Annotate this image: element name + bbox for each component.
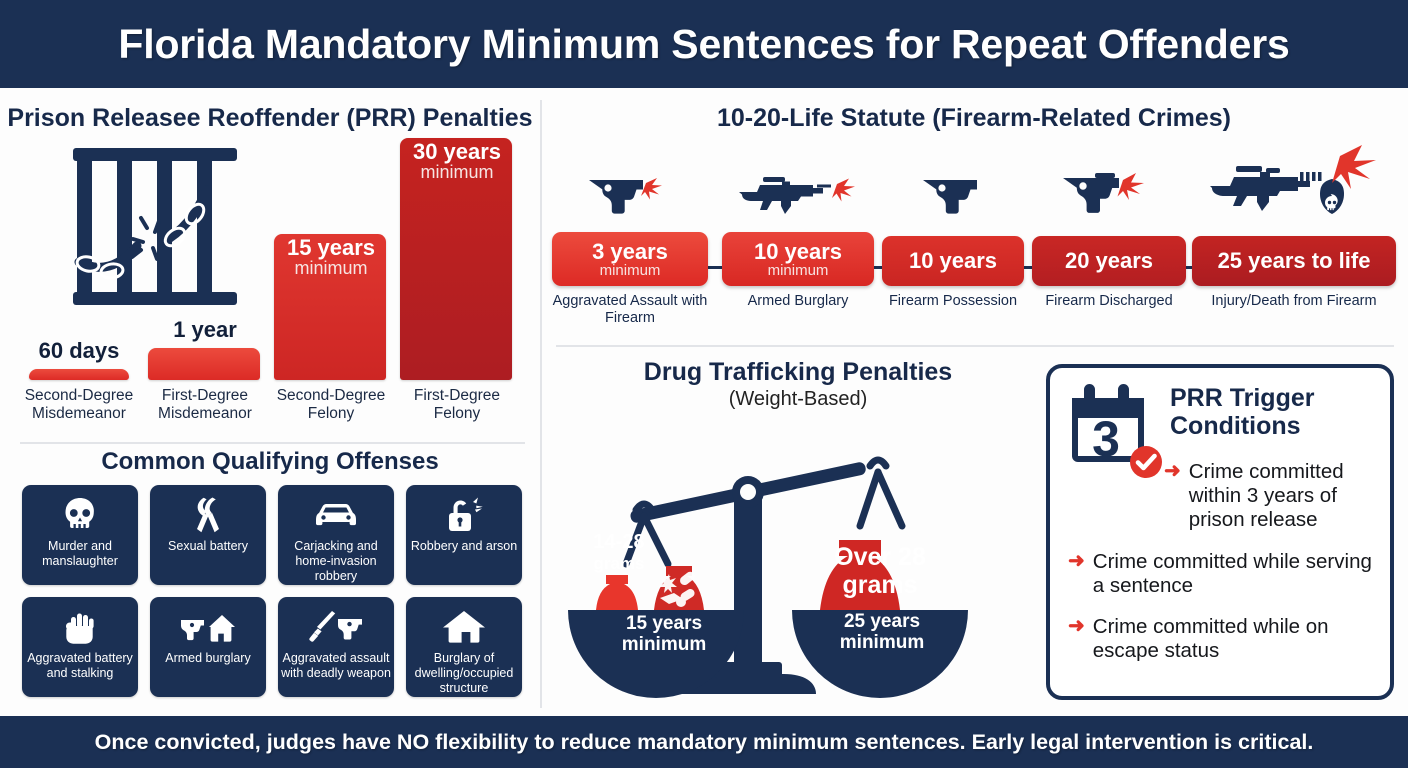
life-value: 10 years bbox=[754, 240, 842, 263]
offense-label: Sexual battery bbox=[165, 536, 251, 554]
life-value: 3 years bbox=[592, 240, 668, 263]
handgun-muzzle-flash-icon bbox=[552, 144, 708, 226]
awareness-ribbon-icon bbox=[193, 494, 223, 536]
offense-tile[interactable]: Carjacking and home-invasion robbery bbox=[278, 485, 394, 585]
offense-label: Armed burglary bbox=[162, 648, 253, 666]
prr-bar-chart: 60 days Second-Degree Misdemeanor 1 year… bbox=[20, 138, 525, 428]
life-section-title: 10-20-Life Statute (Firearm-Related Crim… bbox=[548, 104, 1400, 133]
bar-1 bbox=[148, 348, 260, 380]
trigger-condition-text: Crime committed within 3 years of prison… bbox=[1189, 460, 1382, 533]
rifle-skull-shield-icon bbox=[1192, 144, 1396, 226]
offense-tile[interactable]: Burglary of dwelling/occupied structure bbox=[406, 597, 522, 697]
page-title: Florida Mandatory Minimum Sentences for … bbox=[118, 21, 1289, 68]
arrow-right-icon: ➜ bbox=[1068, 615, 1085, 639]
life-caption: Armed Burglary bbox=[722, 293, 874, 310]
bar-label-1: 1 year bbox=[146, 317, 264, 343]
trigger-condition-text: Crime committed while serving a sentence bbox=[1093, 550, 1384, 598]
trigger-title: PRR Trigger Conditions bbox=[1170, 384, 1384, 440]
bar-label-2: 15 years minimum bbox=[272, 236, 390, 278]
skull-icon bbox=[63, 494, 97, 536]
life-caption: Aggravated Assault with Firearm bbox=[552, 293, 708, 328]
bar-group-1: 1 year bbox=[146, 138, 264, 380]
raised-fist-icon bbox=[64, 606, 96, 648]
life-pill: 20 years bbox=[1032, 236, 1186, 286]
bar-category-2: Second-Degree Felony bbox=[272, 387, 390, 424]
offense-tile[interactable]: Aggravated assault with deadly weapon bbox=[278, 597, 394, 697]
bar-group-0: 60 days bbox=[20, 138, 138, 380]
life-pill: 3 years minimum bbox=[552, 232, 708, 286]
bar-group-2: 15 years minimum bbox=[272, 138, 390, 380]
bar-0 bbox=[29, 369, 129, 380]
offense-label: Burglary of dwelling/occupied structure bbox=[406, 648, 522, 695]
life-value: 10 years bbox=[909, 249, 997, 272]
drug-section-title: Drug Trafficking Penalties bbox=[548, 358, 1048, 387]
trigger-condition-text: Crime committed while on escape status bbox=[1093, 615, 1384, 663]
ten-twenty-life-section: 10-20-Life Statute (Firearm-Related Crim… bbox=[548, 98, 1400, 346]
handgun-icon bbox=[882, 144, 1024, 226]
life-pill: 10 years minimum bbox=[722, 232, 874, 286]
rifle-muzzle-flash-icon bbox=[722, 144, 874, 226]
bar-category-1: First-Degree Misdemeanor bbox=[146, 387, 264, 424]
life-caption: Firearm Discharged bbox=[1032, 293, 1186, 310]
offense-tile[interactable]: Sexual battery bbox=[150, 485, 266, 585]
life-item[interactable]: 25 years to life Injury/Death from Firea… bbox=[1192, 144, 1396, 310]
life-pill: 25 years to life bbox=[1192, 236, 1396, 286]
life-value: 25 years to life bbox=[1218, 249, 1371, 272]
trigger-header: 3 PRR Trigger Conditions bbox=[1066, 382, 1384, 460]
vertical-divider bbox=[540, 100, 542, 708]
trigger-condition-item: ➜ Crime committed within 3 years of pris… bbox=[1164, 460, 1382, 533]
broken-padlock-icon bbox=[444, 494, 484, 536]
life-caption: Firearm Possession bbox=[882, 293, 1024, 310]
handgun-house-icon bbox=[179, 606, 237, 648]
life-pill: 10 years bbox=[882, 236, 1024, 286]
life-timeline: 3 years minimum Aggravated Assault with … bbox=[552, 144, 1396, 340]
life-value: 20 years bbox=[1065, 249, 1153, 272]
life-item[interactable]: 3 years minimum Aggravated Assault with … bbox=[552, 144, 708, 328]
offense-tile[interactable]: Armed burglary bbox=[150, 597, 266, 697]
offense-tile-grid: Murder and manslaughter Sexual battery bbox=[22, 485, 522, 697]
arrow-right-icon: ➜ bbox=[1164, 460, 1181, 484]
bar-group-3: 30 years minimum bbox=[398, 138, 516, 380]
offense-label: Aggravated battery and stalking bbox=[22, 648, 138, 681]
drug-trafficking-section: Drug Trafficking Penalties (Weight-Based… bbox=[548, 352, 1048, 708]
prr-penalties-section: Prison Releasee Reoffender (PRR) Penalti… bbox=[0, 98, 540, 442]
trigger-conditions-list: ➜ Crime committed within 3 years of pris… bbox=[1068, 460, 1384, 680]
trigger-condition-item: ➜ Crime committed while on escape status bbox=[1068, 615, 1384, 663]
trigger-condition-item: ➜ Crime committed while serving a senten… bbox=[1068, 550, 1384, 598]
footer-text: Once convicted, judges have NO flexibili… bbox=[95, 730, 1314, 755]
life-item[interactable]: 10 years Firearm Possession bbox=[882, 144, 1024, 310]
house-icon bbox=[442, 606, 486, 648]
balance-scale-icon: 14-28 grams 15 years minimum Over 28 gra… bbox=[548, 414, 1048, 704]
offense-label: Murder and manslaughter bbox=[22, 536, 138, 569]
offense-label: Robbery and arson bbox=[408, 536, 520, 554]
offense-tile[interactable]: Robbery and arson bbox=[406, 485, 522, 585]
knife-handgun-icon bbox=[307, 606, 365, 648]
qualifying-offenses-section: Common Qualifying Offenses Murder and ma… bbox=[0, 446, 540, 708]
drug-section-subtitle: (Weight-Based) bbox=[548, 388, 1048, 411]
bar-label-3: 30 years minimum bbox=[398, 140, 516, 182]
prr-section-title: Prison Releasee Reoffender (PRR) Penalti… bbox=[0, 104, 540, 133]
bar-category-0: Second-Degree Misdemeanor bbox=[20, 387, 138, 424]
left-column-divider bbox=[20, 442, 525, 444]
car-icon bbox=[312, 494, 360, 536]
life-item[interactable]: 20 years Firearm Discharged bbox=[1032, 144, 1186, 310]
offense-tile[interactable]: Murder and manslaughter bbox=[22, 485, 138, 585]
offense-label: Aggravated assault with deadly weapon bbox=[278, 648, 394, 681]
offense-tile[interactable]: Aggravated battery and stalking bbox=[22, 597, 138, 697]
handgun-discharge-icon bbox=[1032, 144, 1186, 226]
prr-trigger-conditions-box: 3 PRR Trigger Conditions ➜ Crime committ… bbox=[1046, 364, 1394, 700]
life-sub: minimum bbox=[768, 263, 829, 279]
page-footer: Once convicted, judges have NO flexibili… bbox=[0, 716, 1408, 768]
page-header: Florida Mandatory Minimum Sentences for … bbox=[0, 0, 1408, 88]
infographic-page: Florida Mandatory Minimum Sentences for … bbox=[0, 0, 1408, 768]
life-caption: Injury/Death from Firearm bbox=[1192, 293, 1396, 310]
life-item[interactable]: 10 years minimum Armed Burglary bbox=[722, 144, 874, 310]
bar-category-3: First-Degree Felony bbox=[398, 387, 516, 424]
life-sub: minimum bbox=[600, 263, 661, 279]
arrow-right-icon: ➜ bbox=[1068, 550, 1085, 574]
offense-label: Carjacking and home-invasion robbery bbox=[278, 536, 394, 583]
bar-label-0: 60 days bbox=[20, 338, 138, 364]
calendar-number: 3 bbox=[1092, 411, 1120, 467]
offenses-section-title: Common Qualifying Offenses bbox=[0, 448, 540, 476]
